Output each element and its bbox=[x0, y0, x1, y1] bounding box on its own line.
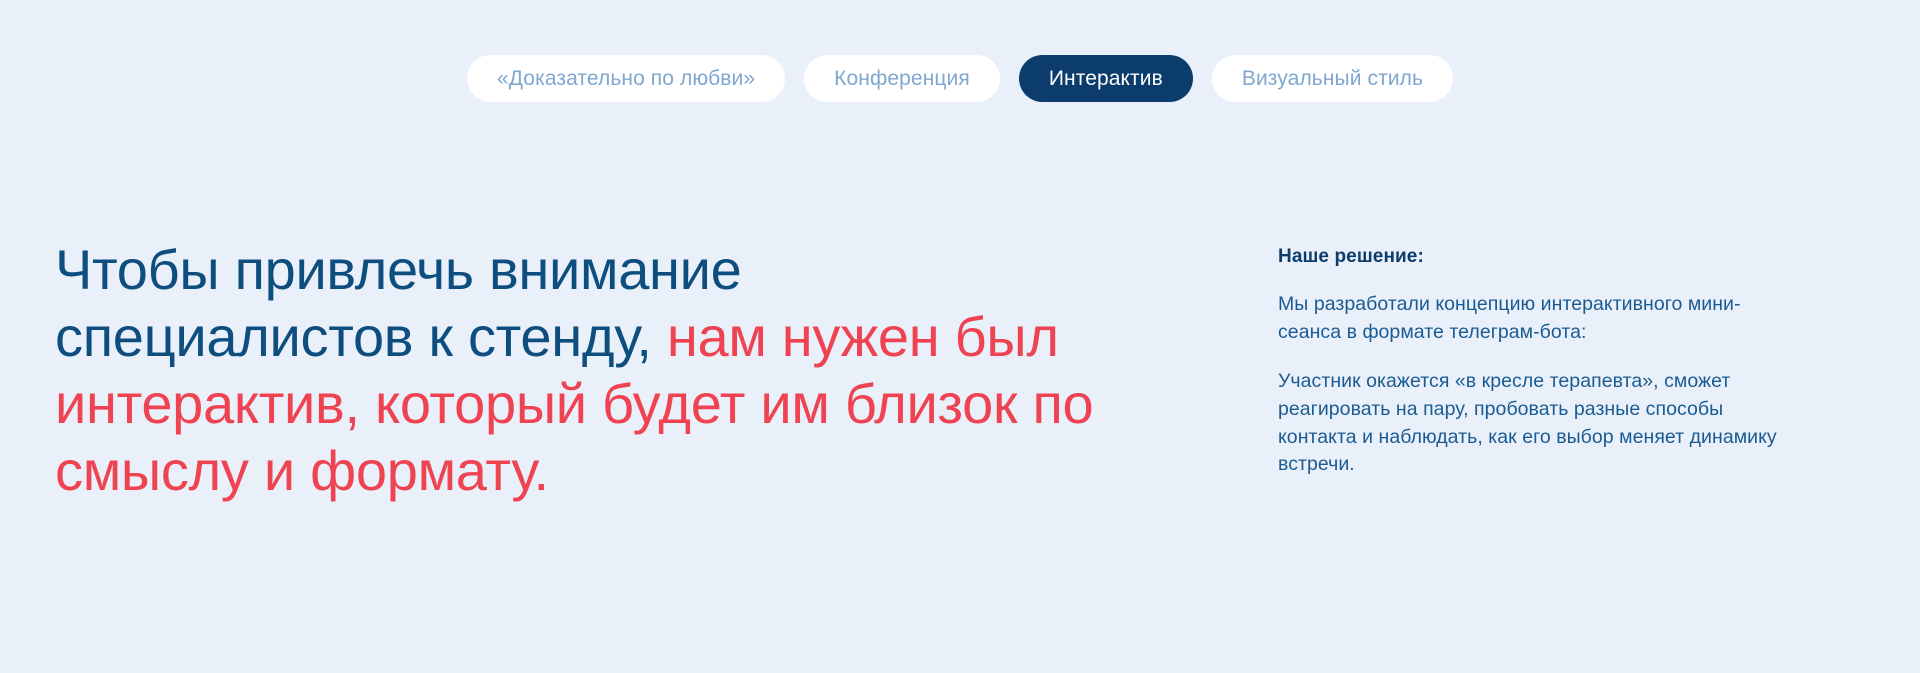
nav-pill-label: Конференция bbox=[834, 67, 970, 91]
solution-paragraph-2: Участник окажется «в кресле терапевта», … bbox=[1278, 368, 1778, 479]
solution-title: Наше решение: bbox=[1278, 246, 1778, 268]
page-headline: Чтобы привлечь внимание специалистов к с… bbox=[55, 237, 1115, 505]
nav-pill-label: Интерактив bbox=[1049, 67, 1163, 91]
nav-pill-vizualny-stil[interactable]: Визуальный стиль bbox=[1212, 55, 1453, 102]
nav-pill-konferenciya[interactable]: Конференция bbox=[804, 55, 1000, 102]
nav-pill-label: Визуальный стиль bbox=[1242, 67, 1423, 91]
nav-pill-interaktiv[interactable]: Интерактив bbox=[1019, 55, 1193, 102]
headline-segment-navy: Чтобы привлечь внимание bbox=[55, 238, 742, 301]
solution-panel: Наше решение: Мы разработали концепцию и… bbox=[1278, 246, 1778, 479]
section-nav: «Доказательно по любви» Конференция Инте… bbox=[0, 55, 1920, 102]
solution-paragraph-1: Мы разработали концепцию интерактивного … bbox=[1278, 291, 1778, 346]
nav-pill-label: «Доказательно по любви» bbox=[497, 67, 755, 91]
headline-segment-navy-2: специалистов к стенду, bbox=[55, 305, 652, 368]
nav-pill-dokazatelno[interactable]: «Доказательно по любви» bbox=[467, 55, 785, 102]
